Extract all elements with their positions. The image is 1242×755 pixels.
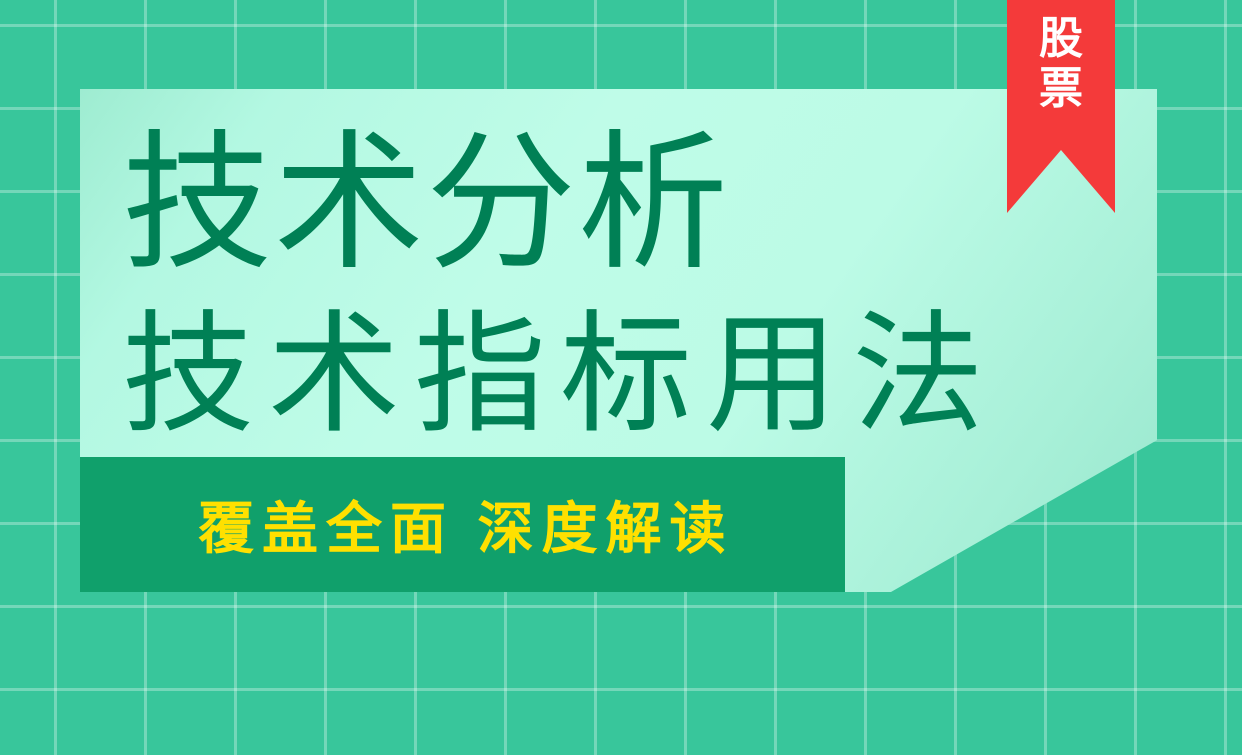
title-line-secondary: 技术指标用法 (122, 300, 1082, 450)
title-line-primary: 技术分析 (122, 118, 1082, 288)
title-block: 技术分析 技术指标用法 (122, 118, 1082, 450)
subtitle-text: 覆盖全面 深度解读 (198, 484, 734, 565)
ribbon-char-1: 股 (1039, 14, 1083, 64)
poster-root: 技术分析 技术指标用法 覆盖全面 深度解读 股 票 (0, 0, 1242, 755)
subtitle-bar: 覆盖全面 深度解读 (80, 457, 845, 592)
ribbon-char-2: 票 (1039, 64, 1083, 114)
